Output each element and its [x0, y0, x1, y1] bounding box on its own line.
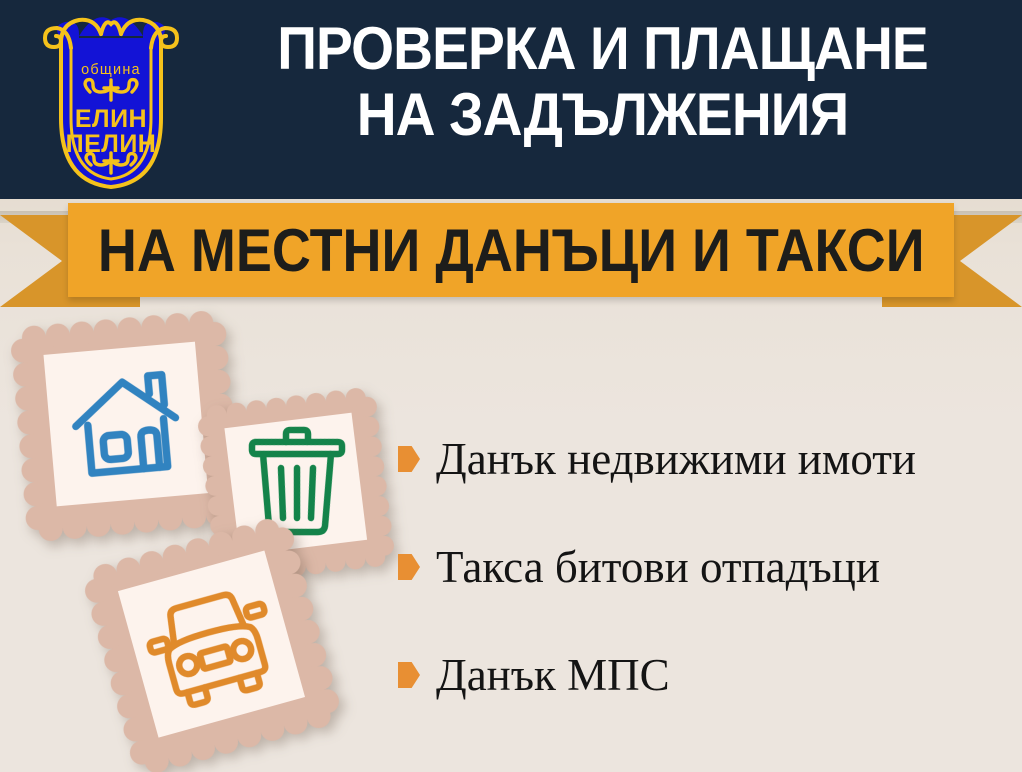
arrow-bullet-icon [398, 662, 420, 688]
page-title-line-2: НА ЗАДЪЛЖЕНИЯ [223, 82, 982, 148]
crest-word-line1: ЕЛИН [75, 105, 147, 133]
header-bar: община ЕЛИН ПЕЛИН [0, 0, 1022, 199]
crest-word-top: община [81, 62, 141, 78]
list-item-label: Данък недвижими имоти [436, 432, 916, 486]
list-item-label: Данък МПС [436, 648, 670, 702]
page-title-line-1: ПРОВЕРКА И ПЛАЩАНЕ [223, 16, 982, 82]
promo-banner: община ЕЛИН ПЕЛИН [0, 0, 1022, 772]
ribbon-center: НА МЕСТНИ ДАНЪЦИ И ТАКСИ [68, 203, 954, 297]
list-item[interactable]: Такса битови отпадъци [398, 536, 1008, 598]
list-item[interactable]: Данък недвижими имоти [398, 428, 1008, 490]
municipality-crest: община ЕЛИН ПЕЛИН [35, 8, 187, 191]
ribbon-banner: НА МЕСТНИ ДАНЪЦИ И ТАКСИ [0, 197, 1022, 309]
ribbon-label: НА МЕСТНИ ДАНЪЦИ И ТАКСИ [98, 216, 925, 285]
list-item-label: Такса битови отпадъци [436, 540, 880, 594]
arrow-bullet-icon [398, 446, 420, 472]
arrow-bullet-icon [398, 554, 420, 580]
tax-type-list: Данък недвижими имоти Такса битови отпад… [398, 428, 1008, 752]
list-item[interactable]: Данък МПС [398, 644, 1008, 706]
header-title-block: ПРОВЕРКА И ПЛАЩАНЕ НА ЗАДЪЛЖЕНИЯ [190, 16, 1015, 148]
